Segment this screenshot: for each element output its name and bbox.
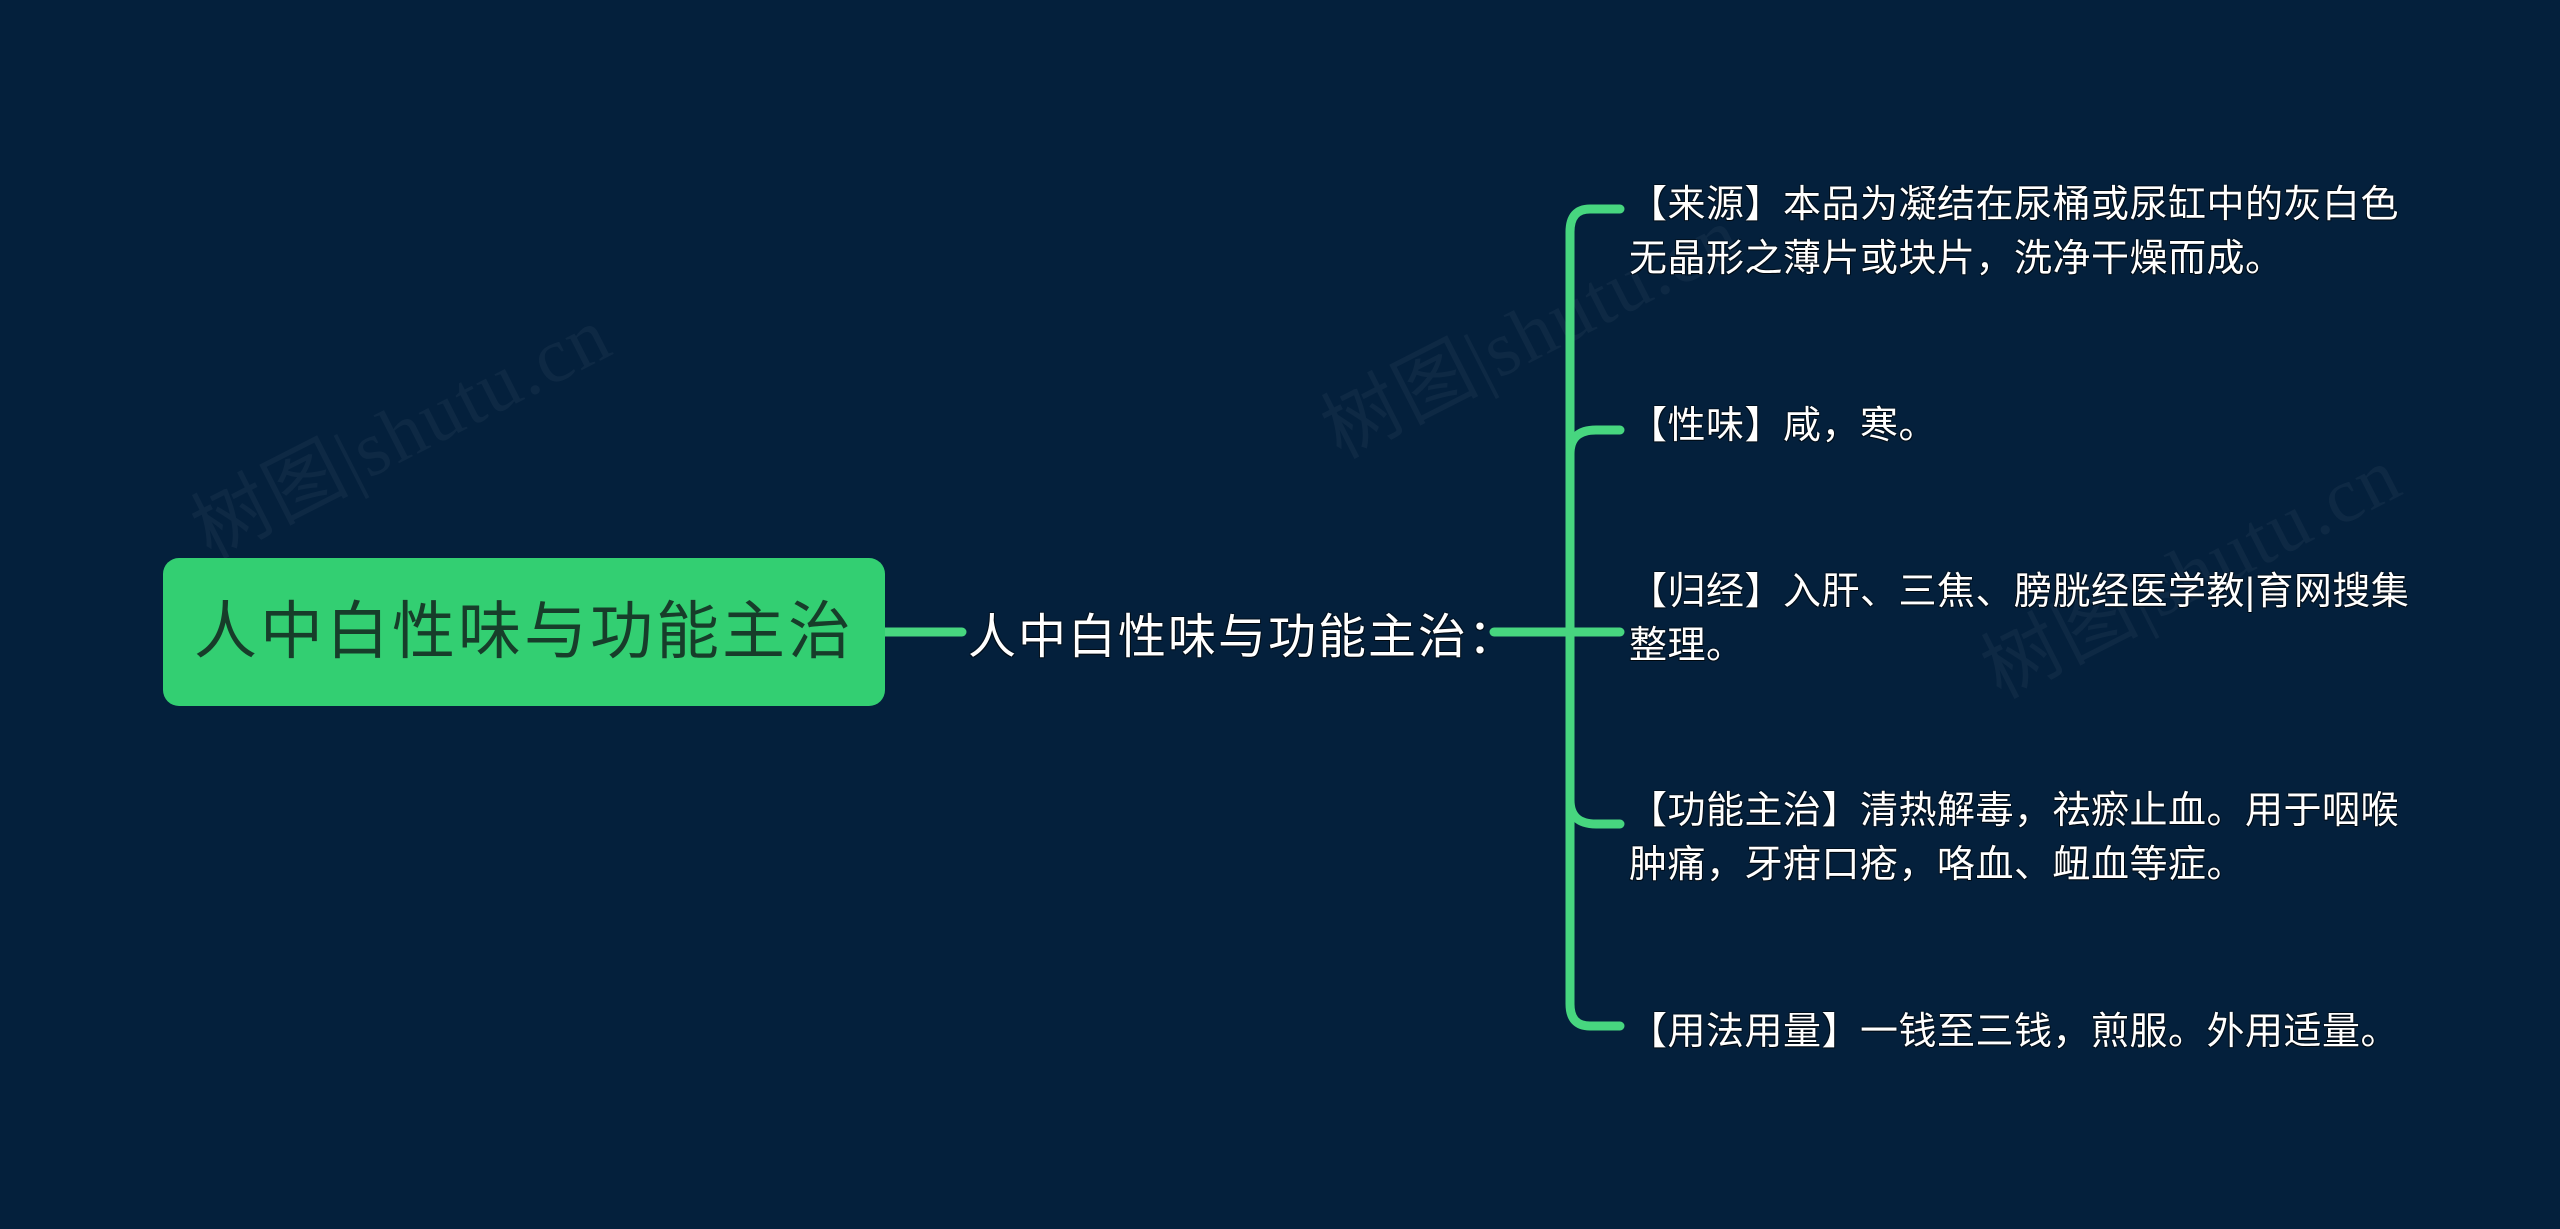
leaf-node-source[interactable]: 【来源】本品为凝结在尿桶或尿缸中的灰白色无晶形之薄片或块片，洗净干燥而成。: [1629, 179, 2429, 287]
leaf-node-indications[interactable]: 【功能主治】清热解毒，祛瘀止血。用于咽喉肿痛，牙疳口疮，咯血、衄血等症。: [1629, 785, 2429, 893]
root-node-label: 人中白性味与功能主治: [194, 601, 854, 664]
connector-stub-indications: [1570, 800, 1620, 824]
branch-node[interactable]: 人中白性味与功能主治：: [968, 586, 1518, 678]
leaf-node-dosage[interactable]: 【用法用量】一钱至三钱，煎服。外用适量。: [1629, 1006, 2429, 1060]
connector-bracket-spine: [1570, 209, 1620, 1026]
mindmap-canvas: 树图|shutu.cn 树图|shutu.cn 树图|shutu.cn 人中白性…: [0, 0, 2560, 1229]
leaf-node-nature[interactable]: 【性味】咸，寒。: [1629, 400, 2429, 454]
leaf-node-label: 【性味】咸，寒。: [1629, 405, 1937, 447]
leaf-node-label: 【归经】入肝、三焦、膀胱经医学教|育网搜集整理。: [1629, 571, 2409, 667]
connector-stub-nature: [1570, 430, 1620, 454]
branch-node-label: 人中白性味与功能主治：: [968, 597, 1518, 667]
leaf-node-label: 【功能主治】清热解毒，祛瘀止血。用于咽喉肿痛，牙疳口疮，咯血、衄血等症。: [1629, 790, 2399, 886]
root-node[interactable]: 人中白性味与功能主治: [163, 558, 885, 706]
leaf-node-label: 【用法用量】一钱至三钱，煎服。外用适量。: [1629, 1011, 2399, 1053]
leaf-node-label: 【来源】本品为凝结在尿桶或尿缸中的灰白色无晶形之薄片或块片，洗净干燥而成。: [1629, 184, 2399, 280]
leaf-node-meridian[interactable]: 【归经】入肝、三焦、膀胱经医学教|育网搜集整理。: [1629, 566, 2429, 674]
